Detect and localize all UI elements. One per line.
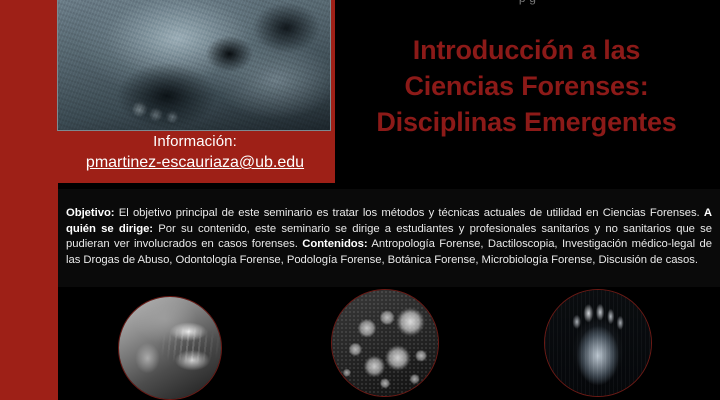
foot-xray-graphic [545,290,651,396]
seminar-poster: Información: pmartinez-escauriaza@ub.edu… [0,0,720,400]
dental-xray-image [118,296,222,400]
objetivo-text: El objetivo principal de este seminario … [115,207,704,219]
pollen-microscopy-graphic [332,290,438,396]
skull-photograph [58,0,330,130]
description-box: Objetivo: El objetivo principal de este … [58,189,720,287]
title-line-2: Ciencias Forenses: [333,68,720,104]
title-line-1: Introducción a las [333,32,720,68]
cut-off-header-text: p g [335,0,720,5]
foot-xray-image [544,289,652,397]
skull-photo-frame [57,0,331,131]
pollen-microscopy-image [331,289,439,397]
objetivo-label: Objetivo: [66,207,115,219]
contact-block: Información: pmartinez-escauriaza@ub.edu [57,132,333,173]
contact-email-link[interactable]: pmartinez-escauriaza@ub.edu [86,152,304,173]
title-line-3: Disciplinas Emergentes [333,104,720,140]
page-title: Introducción a las Ciencias Forenses: Di… [333,32,720,140]
description-text: Objetivo: El objetivo principal de este … [66,206,712,268]
dental-xray-graphic [119,297,221,399]
contact-label: Información: [57,132,333,152]
contenidos-label: Contenidos: [302,238,367,250]
